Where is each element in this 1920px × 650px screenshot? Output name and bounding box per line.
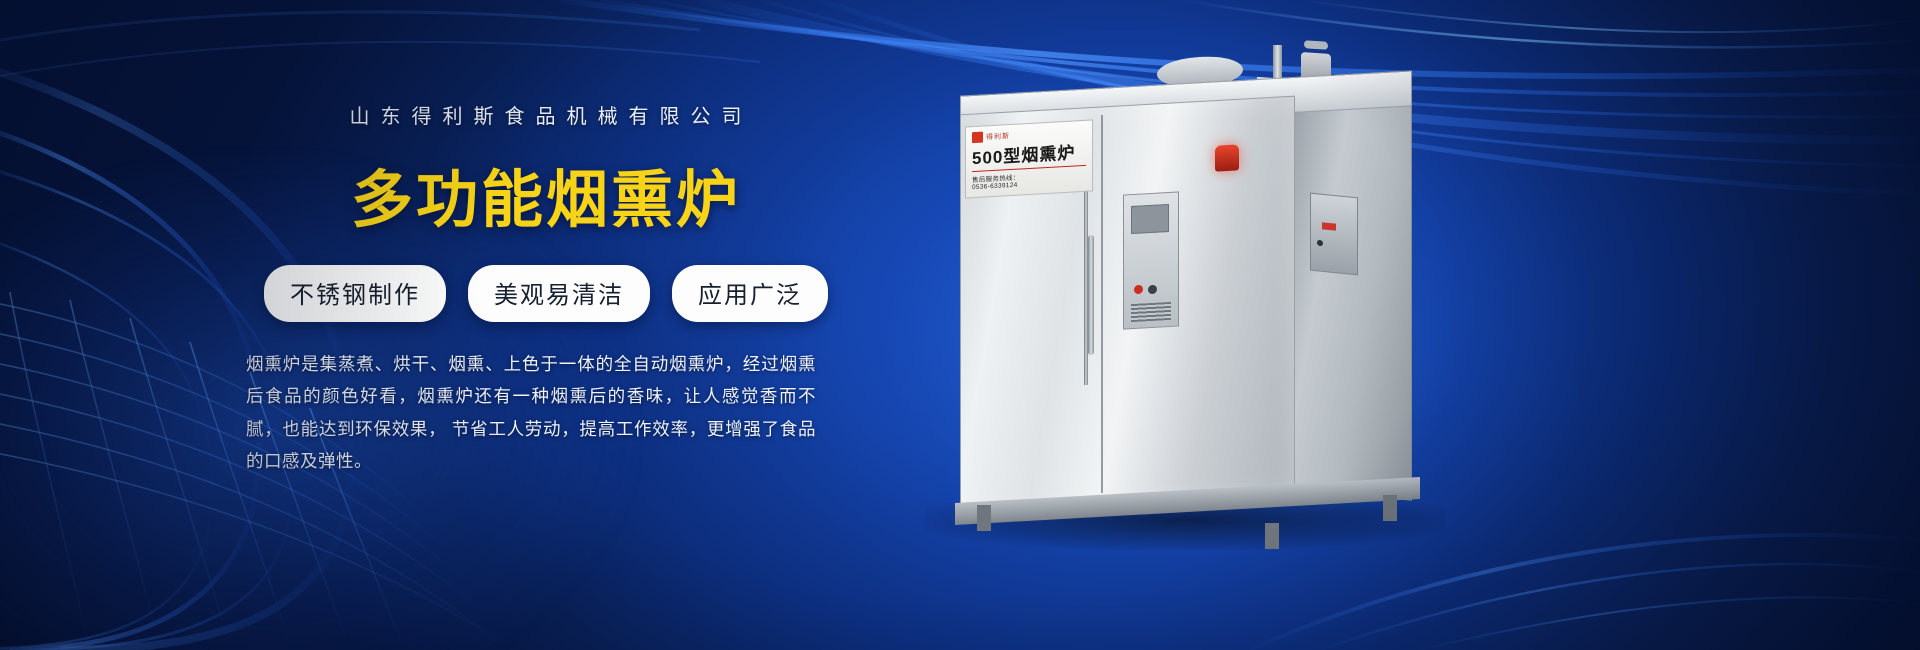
nameplate-brand: 得利斯 bbox=[986, 131, 1010, 142]
page-title: 多功能烟熏炉 bbox=[246, 149, 846, 239]
valve-wheel bbox=[1304, 40, 1328, 50]
product-description: 烟熏炉是集蒸煮、烘干、烟熏、上色于一体的全自动烟熏炉，经过烟熏后食品的颜色好看，… bbox=[246, 348, 816, 478]
cabinet-right-side bbox=[1294, 91, 1412, 501]
machine-nameplate: 得利斯 500型烟熏炉 售后服务热线： 0536-6339124 bbox=[965, 119, 1093, 198]
product-banner: 山东得利斯食品机械有限公司 多功能烟熏炉 不锈钢制作 美观易清洁 应用广泛 烟熏… bbox=[0, 0, 1920, 650]
control-display-screen bbox=[1131, 204, 1169, 234]
product-image-smokehouse-oven: 得利斯 500型烟熏炉 售后服务热线： 0536-6339124 bbox=[905, 35, 1465, 555]
nameplate-model: 500型烟熏炉 bbox=[972, 138, 1086, 169]
machine-leg bbox=[977, 505, 991, 531]
feature-pill-label: 不锈钢制作 bbox=[290, 282, 420, 309]
alarm-beacon-light bbox=[1215, 144, 1239, 171]
machine-leg bbox=[1265, 523, 1279, 549]
machine-leg bbox=[1383, 495, 1397, 521]
door-handle bbox=[1088, 235, 1094, 355]
control-vent-grill bbox=[1131, 302, 1171, 322]
side-box-indicator bbox=[1322, 222, 1336, 230]
feature-pill-easy-clean[interactable]: 美观易清洁 bbox=[468, 265, 650, 322]
feature-pill-stainless[interactable]: 不锈钢制作 bbox=[264, 265, 446, 322]
door-seam bbox=[1101, 115, 1103, 493]
banner-content: 山东得利斯食品机械有限公司 多功能烟熏炉 不锈钢制作 美观易清洁 应用广泛 烟熏… bbox=[246, 100, 846, 478]
feature-pill-wide-use[interactable]: 应用广泛 bbox=[672, 265, 828, 322]
feature-pill-list: 不锈钢制作 美观易清洁 应用广泛 bbox=[246, 265, 846, 322]
company-name: 山东得利斯食品机械有限公司 bbox=[246, 100, 846, 129]
side-box-knob bbox=[1317, 240, 1323, 247]
brand-mark-icon bbox=[972, 132, 983, 144]
side-electrical-box bbox=[1310, 193, 1358, 276]
feature-pill-label: 应用广泛 bbox=[698, 282, 802, 309]
feature-pill-label: 美观易清洁 bbox=[494, 282, 624, 309]
